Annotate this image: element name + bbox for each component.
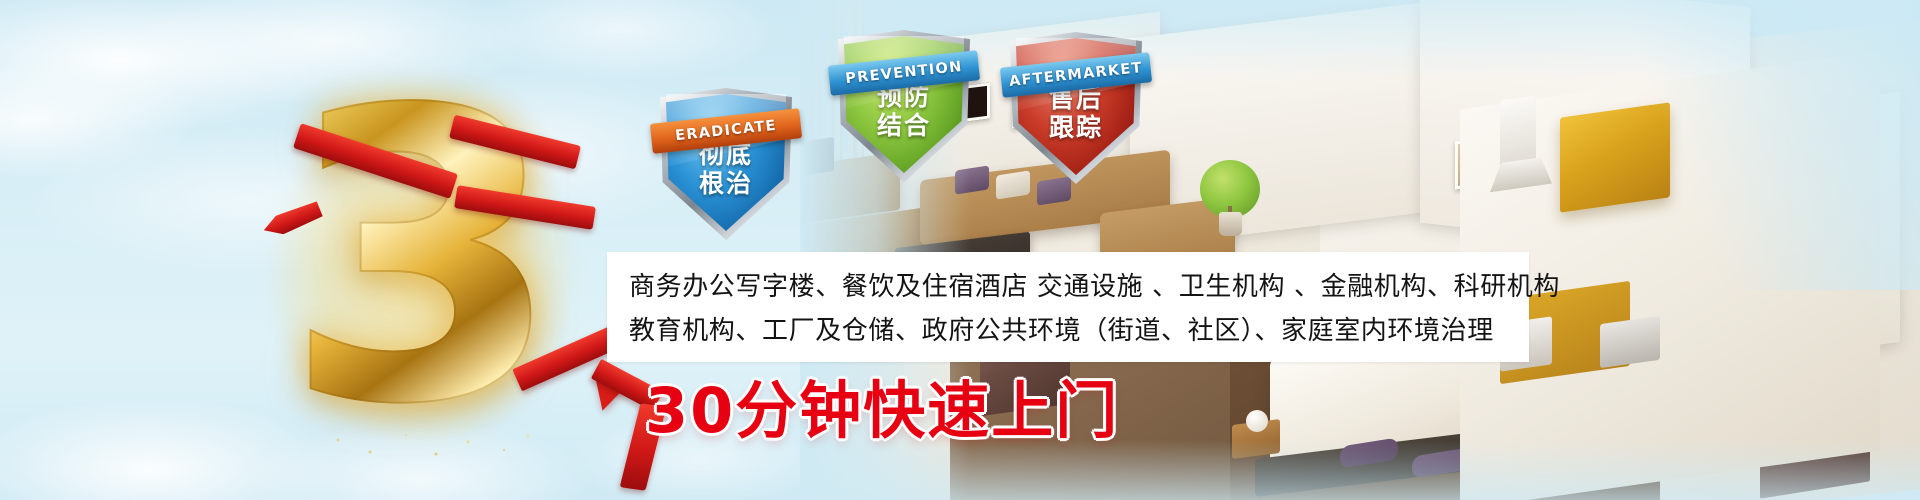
headline-text: 30分钟快速上门 <box>645 360 1119 450</box>
shield-cn-line2: 跟踪 <box>1010 113 1142 142</box>
service-scope-panel: 商务办公写字楼、餐饮及住宿酒店 交通设施 、卫生机构 、金融机构、科研机构 教育… <box>607 252 1529 362</box>
shield-prevention: 预防 结合 PREVENTION <box>838 30 970 182</box>
shield-banner-text: ERADICATE <box>674 118 777 145</box>
service-scope-line-2: 教育机构、工厂及仓储、政府公共环境（街道、社区）、家庭室内环境治理 <box>629 310 1494 347</box>
plant-pot <box>1219 212 1242 236</box>
shield-cn-line2: 结合 <box>838 111 970 140</box>
bedside-lamp-left <box>1246 410 1268 432</box>
kitchen-sink <box>1600 316 1660 368</box>
promo-banner: 3 彻底 根治 ERADICATE 预防 结合 PREVENTION <box>0 0 1920 500</box>
shield-cn-line2: 根治 <box>660 169 792 198</box>
shield-banner-text: PREVENTION <box>845 59 964 87</box>
render-fade-right <box>1600 0 1920 290</box>
service-scope-line-1: 商务办公写字楼、餐饮及住宿酒店 交通设施 、卫生机构 、金融机构、科研机构 <box>629 266 1560 303</box>
shield-eradicate: 彻底 根治 ERADICATE <box>660 88 792 240</box>
numeral-three-text: 3 <box>258 50 588 470</box>
gold-sparkles <box>318 426 548 466</box>
potted-plant-living <box>1200 160 1260 238</box>
shield-aftermarket: 售后 跟踪 AFTERMARKET <box>1010 32 1142 184</box>
